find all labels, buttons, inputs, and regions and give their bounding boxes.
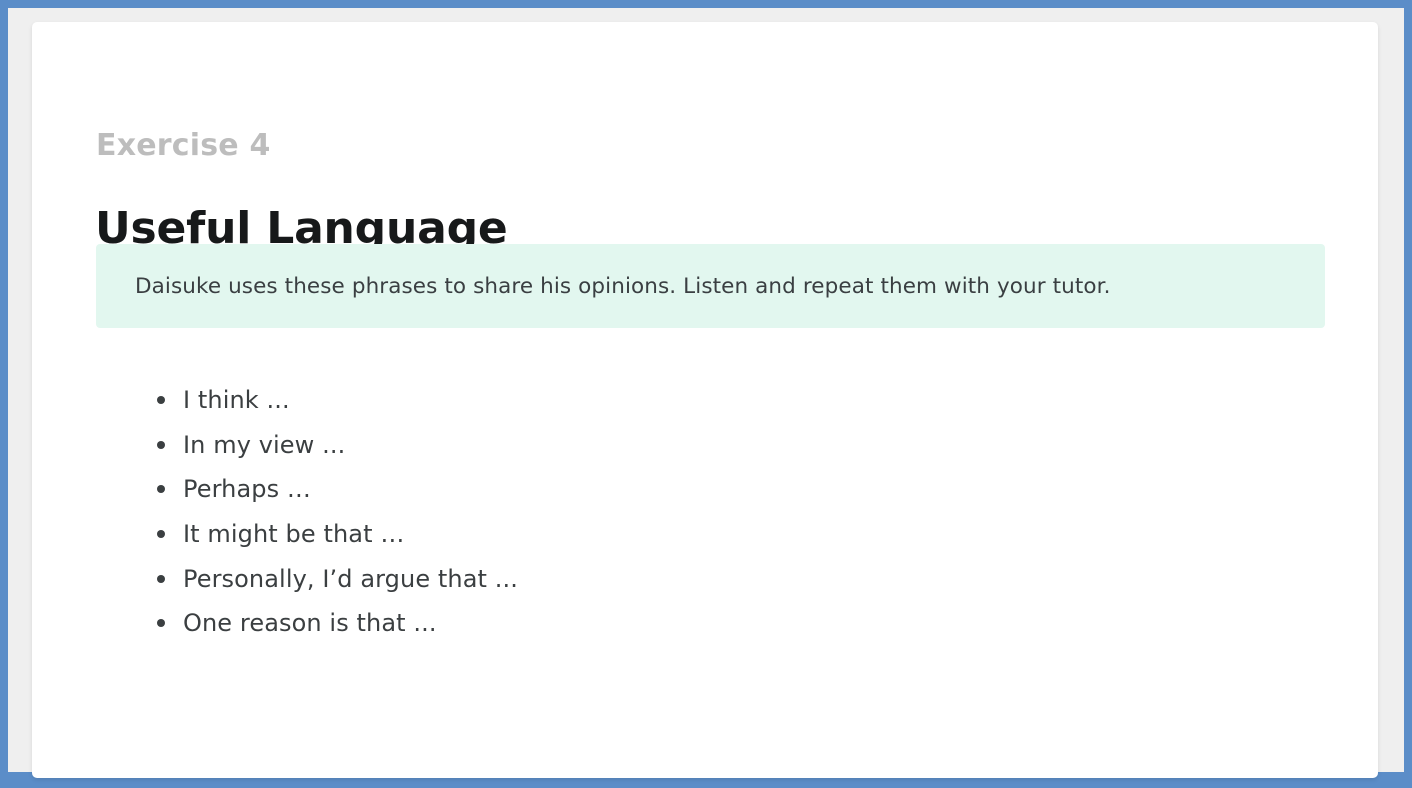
bullet-icon xyxy=(157,396,165,404)
list-item: It might be that … xyxy=(96,512,518,557)
list-item: I think ... xyxy=(96,378,518,423)
exercise-label: Exercise 4 xyxy=(96,128,271,163)
bullet-icon xyxy=(157,441,165,449)
slide-viewport: Exercise 4 Useful Language Daisuke uses … xyxy=(0,0,1412,788)
list-item-label: Personally, I’d argue that ... xyxy=(183,565,518,593)
list-item-label: One reason is that ... xyxy=(183,609,437,637)
bullet-icon xyxy=(157,485,165,493)
useful-language-list: I think ... In my view ... Perhaps … It … xyxy=(96,378,518,646)
instruction-text: Daisuke uses these phrases to share his … xyxy=(135,244,1111,328)
list-item-label: I think ... xyxy=(183,386,290,414)
bullet-icon xyxy=(157,530,165,538)
list-item: Personally, I’d argue that ... xyxy=(96,556,518,601)
slide-content: Exercise 4 Useful Language Daisuke uses … xyxy=(32,22,1378,778)
slide-card: Exercise 4 Useful Language Daisuke uses … xyxy=(32,22,1378,778)
list-item: Perhaps … xyxy=(96,467,518,512)
list-item-label: Perhaps … xyxy=(183,475,311,503)
instruction-banner: Daisuke uses these phrases to share his … xyxy=(96,244,1325,328)
page-background: Exercise 4 Useful Language Daisuke uses … xyxy=(8,8,1404,772)
bullet-icon xyxy=(157,575,165,583)
list-item-label: It might be that … xyxy=(183,520,404,548)
list-item: One reason is that ... xyxy=(96,601,518,646)
bullet-icon xyxy=(157,619,165,627)
list-item: In my view ... xyxy=(96,423,518,468)
list-item-label: In my view ... xyxy=(183,431,345,459)
